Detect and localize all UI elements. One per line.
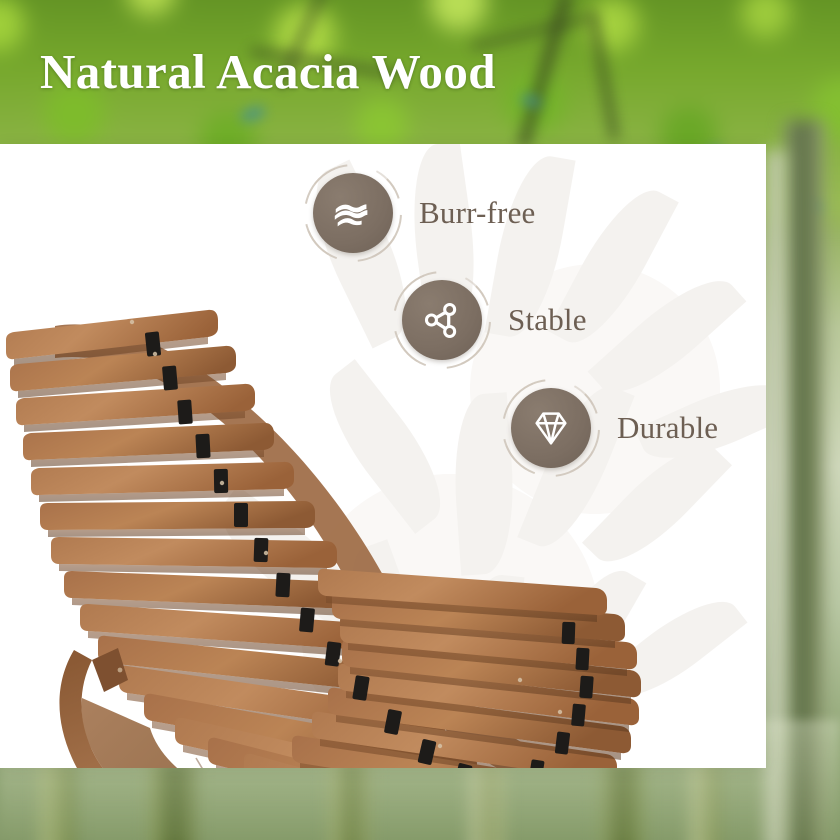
feature-badge-durable[interactable]: Durable <box>511 388 718 468</box>
content-card: Burr-free <box>0 144 766 768</box>
feature-badge-burr-free[interactable]: Burr-free <box>313 173 536 253</box>
wood-grain-icon <box>330 190 376 236</box>
share-nodes-icon <box>419 297 465 343</box>
feature-label: Stable <box>508 302 587 338</box>
badge-ring <box>511 388 591 468</box>
diamond-icon <box>528 405 574 451</box>
badge-disc <box>313 173 393 253</box>
badge-ring <box>313 173 393 253</box>
badge-disc <box>511 388 591 468</box>
badge-disc <box>402 280 482 360</box>
feature-label: Durable <box>617 410 718 446</box>
promo-image-root: Natural Acacia Wood <box>0 0 840 840</box>
badge-ring <box>402 280 482 360</box>
feature-badge-stable[interactable]: Stable <box>402 280 587 360</box>
feature-label: Burr-free <box>419 195 536 231</box>
product-image-chaise-lounge <box>0 288 700 768</box>
page-title: Natural Acacia Wood <box>40 46 496 98</box>
